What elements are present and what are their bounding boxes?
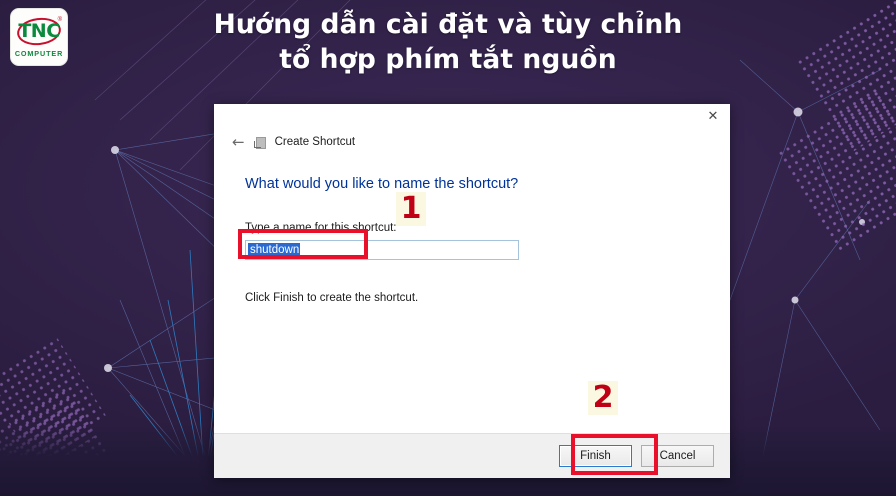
dialog-title: Create Shortcut — [275, 136, 356, 148]
logo-subtext: COMPUTER — [15, 49, 63, 58]
dialog-nav: ← Create Shortcut — [214, 128, 730, 154]
annotation-number-1: 1 — [396, 192, 426, 226]
dialog-question: What would you like to name the shortcut… — [245, 176, 700, 192]
logo-text: TNC — [18, 22, 59, 41]
name-field-label: Type a name for this shortcut: — [245, 222, 700, 234]
page-title: Hướng dẫn cài đặt và tùy chỉnh tổ hợp ph… — [140, 8, 756, 78]
annotation-number-2: 2 — [588, 381, 618, 415]
shortcut-name-input[interactable]: shutdown — [245, 240, 519, 260]
close-icon[interactable]: ✕ — [696, 104, 730, 128]
dialog-footer: Finish Cancel — [214, 433, 730, 478]
shortcut-name-value: shutdown — [248, 243, 300, 257]
page-title-line-2: tổ hợp phím tắt nguồn — [140, 43, 756, 78]
dialog-hint: Click Finish to create the shortcut. — [245, 292, 700, 304]
screenshot-canvas: TNC ® COMPUTER Hướng dẫn cài đặt và tùy … — [0, 0, 896, 496]
page-title-line-1: Hướng dẫn cài đặt và tùy chỉnh — [140, 8, 756, 43]
tnc-logo: TNC ® COMPUTER — [10, 8, 68, 66]
dialog-body: What would you like to name the shortcut… — [214, 154, 730, 433]
cancel-button[interactable]: Cancel — [641, 445, 714, 467]
finish-button[interactable]: Finish — [559, 445, 632, 467]
logo-mark: TNC ® — [15, 17, 63, 47]
create-shortcut-dialog: ✕ ← Create Shortcut What would you like … — [214, 104, 730, 478]
shortcut-file-icon — [254, 136, 266, 148]
dialog-titlebar: ✕ — [214, 104, 730, 128]
registered-mark-icon: ® — [58, 17, 62, 23]
back-arrow-icon[interactable]: ← — [232, 135, 245, 150]
